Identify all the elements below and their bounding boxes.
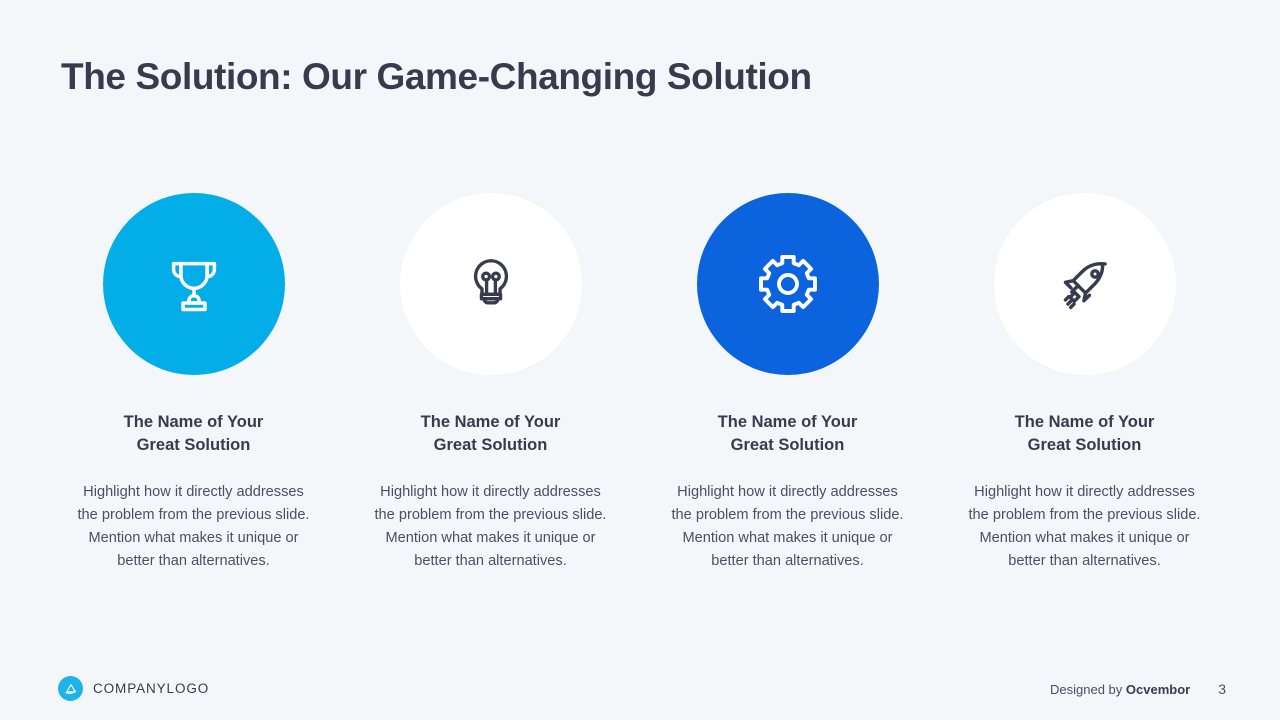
card-title: The Name of Your Great Solution <box>421 411 561 457</box>
lightbulb-icon <box>460 253 522 315</box>
trophy-icon <box>159 249 229 319</box>
icon-circle-2[interactable] <box>400 193 582 375</box>
card-body: Highlight how it directly addresses the … <box>667 481 909 573</box>
footer-credit: Designed by Ocvembor 3 <box>1050 681 1226 697</box>
icon-circle-1[interactable] <box>103 193 285 375</box>
solution-card-4[interactable]: The Name of Your Great Solution Highligh… <box>936 193 1233 573</box>
page-title: The Solution: Our Game-Changing Solution <box>61 56 812 98</box>
card-title: The Name of Your Great Solution <box>124 411 264 457</box>
icon-circle-3[interactable] <box>697 193 879 375</box>
solution-columns: The Name of Your Great Solution Highligh… <box>0 193 1280 573</box>
card-title: The Name of Your Great Solution <box>718 411 858 457</box>
rocket-icon <box>1052 251 1118 317</box>
gear-icon <box>752 248 824 320</box>
solution-card-1[interactable]: The Name of Your Great Solution Highligh… <box>45 193 342 573</box>
card-body: Highlight how it directly addresses the … <box>73 481 315 573</box>
card-body: Highlight how it directly addresses the … <box>964 481 1206 573</box>
icon-circle-4[interactable] <box>994 193 1176 375</box>
footer-logo[interactable]: COMPANYLOGO <box>58 676 209 701</box>
slide: The Solution: Our Game-Changing Solution… <box>0 0 1280 720</box>
company-logo-icon <box>58 676 83 701</box>
designed-by-prefix: Designed by <box>1050 682 1126 697</box>
card-title: The Name of Your Great Solution <box>1015 411 1155 457</box>
company-logo-text: COMPANYLOGO <box>93 681 209 696</box>
solution-card-3[interactable]: The Name of Your Great Solution Highligh… <box>639 193 936 573</box>
designed-by-label: Designed by Ocvembor <box>1050 682 1190 697</box>
card-body: Highlight how it directly addresses the … <box>370 481 612 573</box>
page-number: 3 <box>1218 681 1226 697</box>
designer-name: Ocvembor <box>1126 682 1190 697</box>
solution-card-2[interactable]: The Name of Your Great Solution Highligh… <box>342 193 639 573</box>
